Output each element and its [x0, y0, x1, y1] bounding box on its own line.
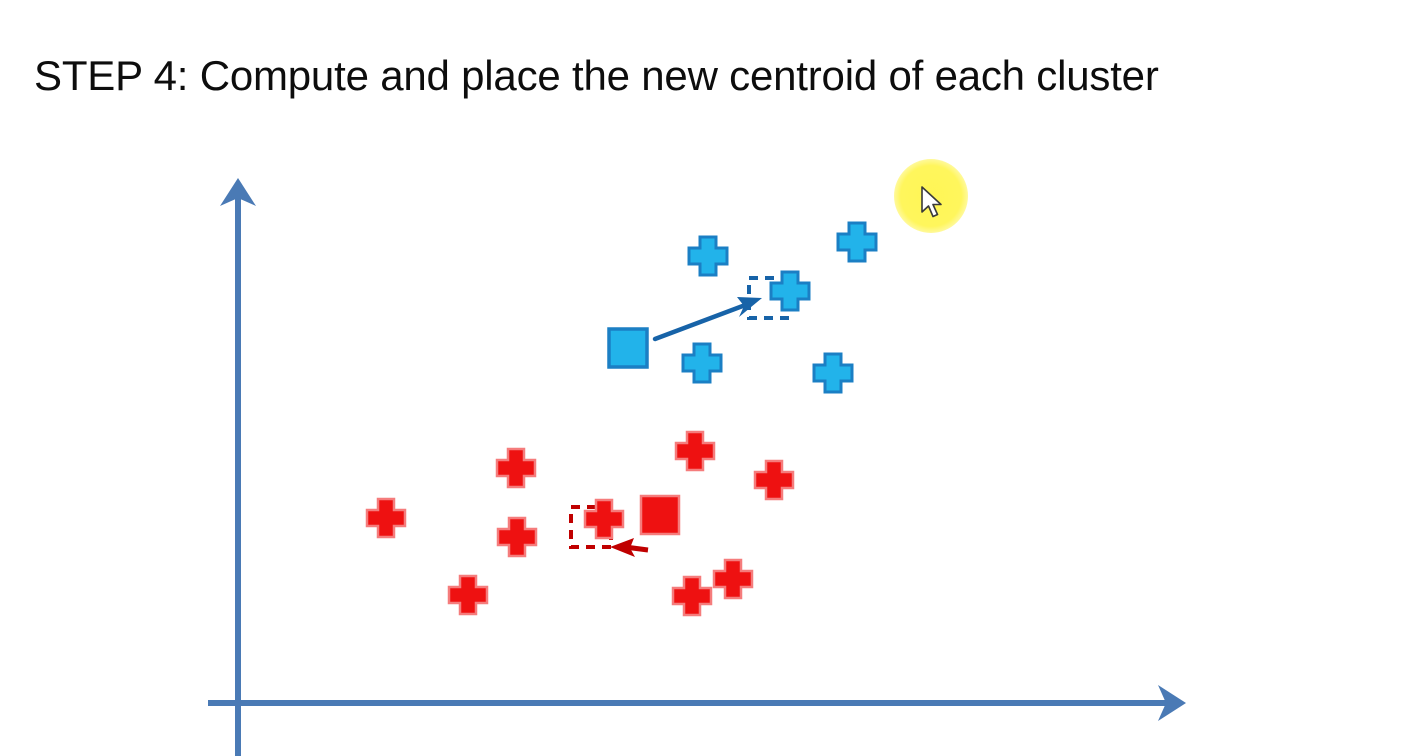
blue-cross-marker: [683, 344, 721, 382]
red-cross-marker: [367, 499, 405, 537]
blue-centroid-move-arrow-shaft: [655, 304, 748, 339]
scatter-plot: [0, 0, 1428, 756]
plot-svg: [0, 0, 1428, 756]
red-cross-marker: [714, 560, 752, 598]
red-cross-marker: [676, 432, 714, 470]
red-cross-marker: [498, 518, 536, 556]
blue-cross-marker: [814, 354, 852, 392]
blue-old-centroid: [609, 329, 647, 367]
blue-cluster-points: [683, 223, 876, 392]
red-cross-marker: [755, 461, 793, 499]
red-cross-marker: [497, 449, 535, 487]
slide-canvas: STEP 4: Compute and place the new centro…: [0, 0, 1428, 756]
red-cross-marker: [673, 577, 711, 615]
red-old-centroid: [641, 496, 679, 534]
blue-cross-marker: [838, 223, 876, 261]
red-cluster-points: [367, 432, 793, 615]
red-cross-marker: [449, 576, 487, 614]
blue-cross-marker-overlap: [771, 272, 809, 310]
blue-cross-marker: [689, 237, 727, 275]
